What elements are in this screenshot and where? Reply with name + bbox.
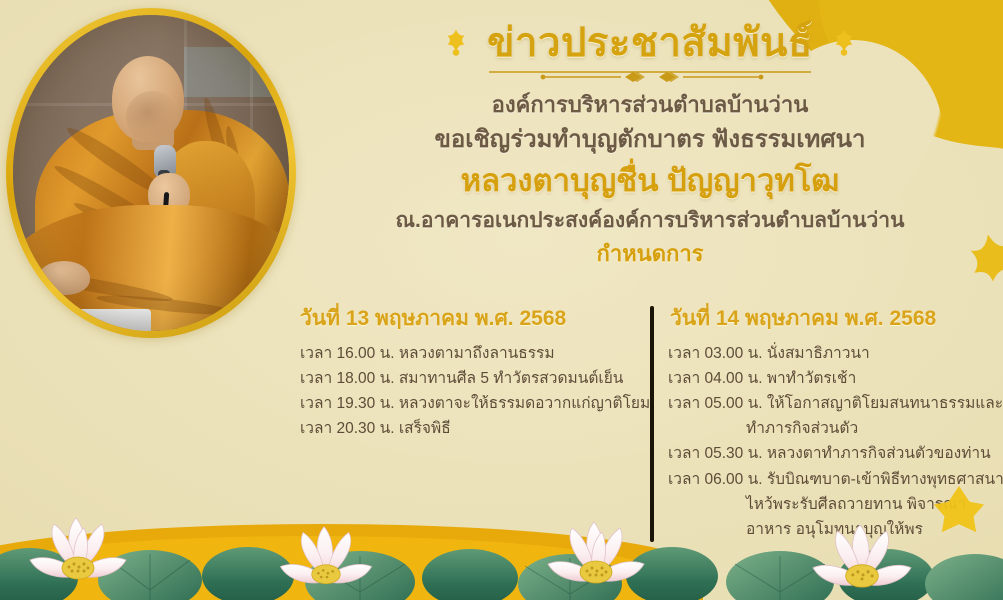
organization-line: องค์การบริหารส่วนตำบลบ้านว่าน — [320, 88, 980, 121]
day1-item: เวลา 18.00 น. สมาทานศีล 5 ทำวัตรสวดมนต์เ… — [300, 366, 636, 391]
day1-item: เวลา 19.30 น. หลวงตาจะให้ธรรมดอวากแก่ญาต… — [300, 391, 636, 416]
header-block: ข่าวประชาสัมพันธ์ องค์การบริหา — [320, 22, 980, 272]
lotus-flower-border — [0, 480, 1003, 600]
day2-item: เวลา 04.00 น. พาทำวัตรเช้า — [668, 366, 990, 391]
monk-photo — [13, 15, 289, 331]
poster-canvas: ข่าวประชาสัมพันธ์ องค์การบริหา — [0, 0, 1003, 600]
day1-items: เวลา 16.00 น. หลวงตามาถึงลานธรรมเวลา 18.… — [300, 341, 636, 441]
venue-line: ณ.อาคารอเนกประสงค์องค์การบริหารส่วนตำบลบ… — [320, 205, 980, 237]
day2-item: เวลา 05.00 น. ให้โอกาสญาติโยมสนทนาธรรมแล… — [668, 391, 990, 416]
title-row: ข่าวประชาสัมพันธ์ — [320, 22, 980, 65]
day2-item: เวลา 03.00 น. นั่งสมาธิภาวนา — [668, 341, 990, 366]
day2-heading: วันที่ 14 พฤษภาคม พ.ศ. 2568 — [670, 302, 990, 335]
gold-flourish-divider — [485, 68, 815, 82]
day1-item: เวลา 20.30 น. เสร็จพิธี — [300, 416, 636, 441]
schedule-day1-column: วันที่ 13 พฤษภาคม พ.ศ. 2568 เวลา 16.00 น… — [300, 302, 650, 441]
quatrefoil-icon-right — [829, 29, 859, 59]
page-title: ข่าวประชาสัมพันธ์ — [487, 22, 813, 65]
day2-item: เวลา 05.30 น. หลวงตาทำภารกิจส่วนตัวของท่… — [668, 441, 990, 466]
quatrefoil-icon-left — [441, 29, 471, 59]
invitation-line: ขอเชิญร่วมทำบุญตักบาตร ฟังธรรมเทศนา — [320, 121, 980, 158]
monk-name: หลวงตาบุญชื่น ปัญญาวุทโฒ — [320, 158, 980, 205]
gold-lotus-ornament — [923, 482, 995, 548]
day2-item: ทำภารกิจส่วนตัว — [668, 416, 990, 441]
monk-photo-frame — [6, 8, 296, 338]
day1-item: เวลา 16.00 น. หลวงตามาถึงลานธรรม — [300, 341, 636, 366]
day1-heading: วันที่ 13 พฤษภาคม พ.ศ. 2568 — [300, 302, 636, 335]
agenda-label: กำหนดการ — [320, 236, 980, 271]
